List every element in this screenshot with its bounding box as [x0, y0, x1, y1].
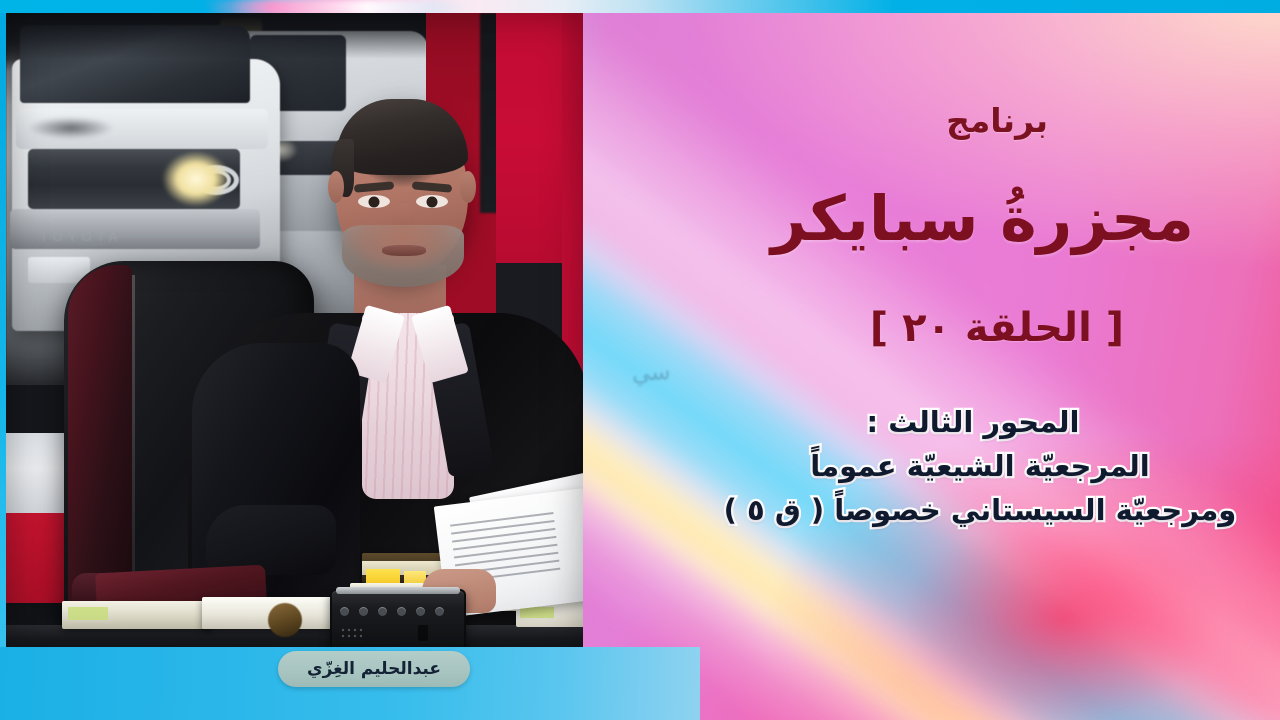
audio-device-top-rail: [336, 587, 460, 594]
presenter-sleeve-fold: [206, 505, 336, 575]
presenter-beard: [342, 225, 464, 287]
book-bookmark-green-left: [68, 607, 108, 620]
presenter-eye-left: [358, 195, 390, 208]
book-bookmark-green-right: [520, 607, 554, 618]
brass-book-stand: [268, 603, 302, 637]
hood-shadow: [28, 117, 114, 139]
audio-device-speaker-grille: [340, 627, 362, 641]
truck-brand-text: TOYOTA: [40, 229, 122, 244]
ghost-watermark-text: سي: [632, 359, 671, 386]
audio-device-port: [418, 625, 428, 641]
office-chair-stitching: [132, 275, 135, 605]
studio-video-feed: TOYOTA: [6, 13, 583, 647]
audio-device-knobs: [340, 607, 456, 619]
presenter-eye-right: [416, 195, 448, 208]
presenter-name-plate: عبدالحليم الغِزّي: [278, 651, 470, 687]
backdrop-red-glow: [768, 432, 1280, 720]
presenter-ear-left: [328, 171, 344, 203]
broadcast-frame: سي TOYOTA: [0, 0, 1280, 720]
presenter-name-label: عبدالحليم الغِزّي: [307, 661, 441, 678]
top-color-strip: [0, 0, 1280, 13]
presenter-mouth: [382, 245, 426, 256]
screen-top-shadow: [6, 13, 426, 59]
presenter-ear-right: [460, 171, 476, 203]
pickup-truck-front-headlamp: [162, 151, 230, 207]
